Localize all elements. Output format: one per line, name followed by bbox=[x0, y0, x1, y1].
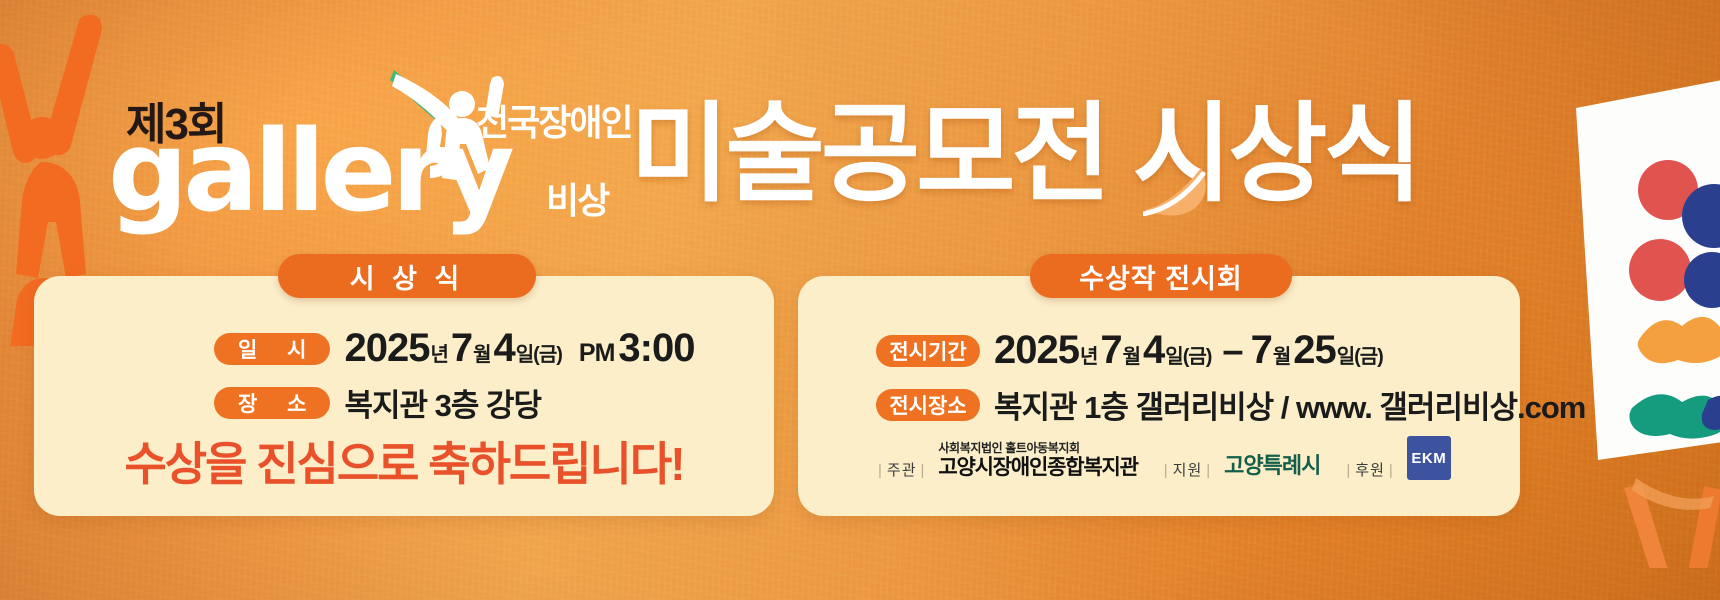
congratulation-slogan: 수상을 진심으로 축하드립니다! bbox=[34, 428, 774, 494]
ceremony-place-main: 강당 bbox=[486, 388, 541, 423]
exhibition-start-month-unit: 월 bbox=[1123, 340, 1140, 369]
credit-support-name: 고양특례시 bbox=[1224, 448, 1320, 480]
credit-organizer-name-stack: 사회복지법인 홀트아동복지회 고양시장애인종합복지관 bbox=[938, 442, 1137, 480]
ceremony-time: 3:00 bbox=[618, 326, 694, 371]
ceremony-day: 4 bbox=[494, 326, 515, 371]
exhibition-venue-label: 전시장소 bbox=[876, 389, 980, 421]
credit-organizer-role-text: 주관 bbox=[887, 462, 917, 479]
exhibition-period-value: 2025 년 7 월 4 일(금) – 7 월 25 일(금) bbox=[994, 328, 1386, 373]
ceremony-datetime-value: 2025 년 7 월 4 일(금) PM 3:00 bbox=[344, 326, 694, 371]
exhibition-badge: 수상작 전시회 bbox=[1030, 254, 1292, 298]
exhibition-website[interactable]: www. 갤러리비상.com bbox=[1296, 390, 1585, 425]
exhibition-start-month: 7 bbox=[1100, 328, 1121, 373]
ceremony-badge: 시 상 식 bbox=[278, 254, 536, 298]
exhibition-venue-main: 갤러리비상 bbox=[1136, 390, 1274, 425]
exhibition-period-row: 전시기간 2025 년 7 월 4 일(금) – 7 월 25 일(금) bbox=[876, 328, 1386, 373]
gallery-logotype: gallery bbox=[108, 116, 510, 228]
credit-sponsor: |후원| EKM bbox=[1342, 436, 1450, 480]
event-banner: 제3회 전국장애인 gallery 비상 미술공모전 시상식 시 상 식 일 시… bbox=[0, 0, 1720, 600]
ceremony-day-unit: 일(금) bbox=[516, 338, 562, 367]
exhibition-end-day-unit: 일(금) bbox=[1337, 340, 1383, 369]
exhibition-period-label: 전시기간 bbox=[876, 335, 980, 367]
credit-organizer: |주관| 사회복지법인 홀트아동복지회 고양시장애인종합복지관 bbox=[874, 442, 1138, 480]
exhibition-venue-row: 전시장소 복지관 1층 갤러리비상 / www. 갤러리비상.com bbox=[876, 382, 1585, 427]
ceremony-month: 7 bbox=[451, 326, 472, 371]
exhibition-period-dash: – bbox=[1222, 330, 1242, 373]
leaf-swoosh-icon bbox=[1143, 164, 1221, 216]
exhibition-start-day-unit: 일(금) bbox=[1165, 340, 1211, 369]
exhibition-year-unit: 년 bbox=[1080, 340, 1097, 369]
credit-organizer-name: 고양시장애인종합복지관 bbox=[938, 456, 1137, 480]
ceremony-date-label: 일 시 bbox=[214, 333, 330, 365]
exhibition-card: 수상작 전시회 전시기간 2025 년 7 월 4 일(금) – 7 월 25 … bbox=[798, 276, 1520, 516]
exhibition-end-day: 25 bbox=[1293, 328, 1336, 373]
exhibition-venue-separator: / bbox=[1273, 390, 1296, 425]
credit-sponsor-role-text: 후원 bbox=[1355, 462, 1385, 479]
page-title: 미술공모전 시상식 bbox=[630, 100, 1419, 208]
ceremony-venue-row: 장 소 복지관 3층 강당 bbox=[214, 380, 541, 425]
headline-block: 제3회 전국장애인 gallery 비상 미술공모전 시상식 bbox=[108, 72, 1528, 242]
credit-sponsor-role: |후원| bbox=[1342, 459, 1397, 480]
exhibition-year: 2025 bbox=[994, 328, 1079, 373]
gallery-logotype-korean: 비상 bbox=[546, 172, 608, 224]
exhibition-end-month-unit: 월 bbox=[1273, 340, 1290, 369]
credit-support-role: |지원| bbox=[1160, 459, 1215, 480]
exhibition-venue-prefix: 복지관 1층 bbox=[994, 390, 1136, 425]
ceremony-meridiem: PM bbox=[579, 339, 615, 368]
ceremony-place-prefix: 복지관 3층 bbox=[344, 388, 486, 423]
credit-organizer-role: |주관| bbox=[874, 459, 929, 480]
credit-support: |지원| 고양특례시 bbox=[1160, 448, 1321, 480]
canvas-artwork-illustration bbox=[1536, 8, 1720, 568]
ceremony-year: 2025 bbox=[344, 326, 429, 371]
exhibition-venue-value: 복지관 1층 갤러리비상 / www. 갤러리비상.com bbox=[994, 382, 1585, 427]
exhibition-end-month: 7 bbox=[1251, 328, 1272, 373]
ceremony-year-unit: 년 bbox=[430, 338, 447, 367]
ekm-logo: EKM bbox=[1407, 436, 1451, 480]
ceremony-card: 시 상 식 일 시 2025 년 7 월 4 일(금) PM 3:00 장 소 … bbox=[34, 276, 774, 516]
credit-support-role-text: 지원 bbox=[1173, 462, 1203, 479]
ceremony-month-unit: 월 bbox=[473, 338, 490, 367]
ceremony-datetime-row: 일 시 2025 년 7 월 4 일(금) PM 3:00 bbox=[214, 326, 694, 371]
credit-organizer-subname: 사회복지법인 홀트아동복지회 bbox=[938, 442, 1137, 456]
credits-row: |주관| 사회복지법인 홀트아동복지회 고양시장애인종합복지관 |지원| 고양특… bbox=[874, 436, 1451, 480]
ceremony-place-label: 장 소 bbox=[214, 387, 330, 419]
ceremony-place-value: 복지관 3층 강당 bbox=[344, 380, 541, 425]
exhibition-start-day: 4 bbox=[1143, 328, 1164, 373]
